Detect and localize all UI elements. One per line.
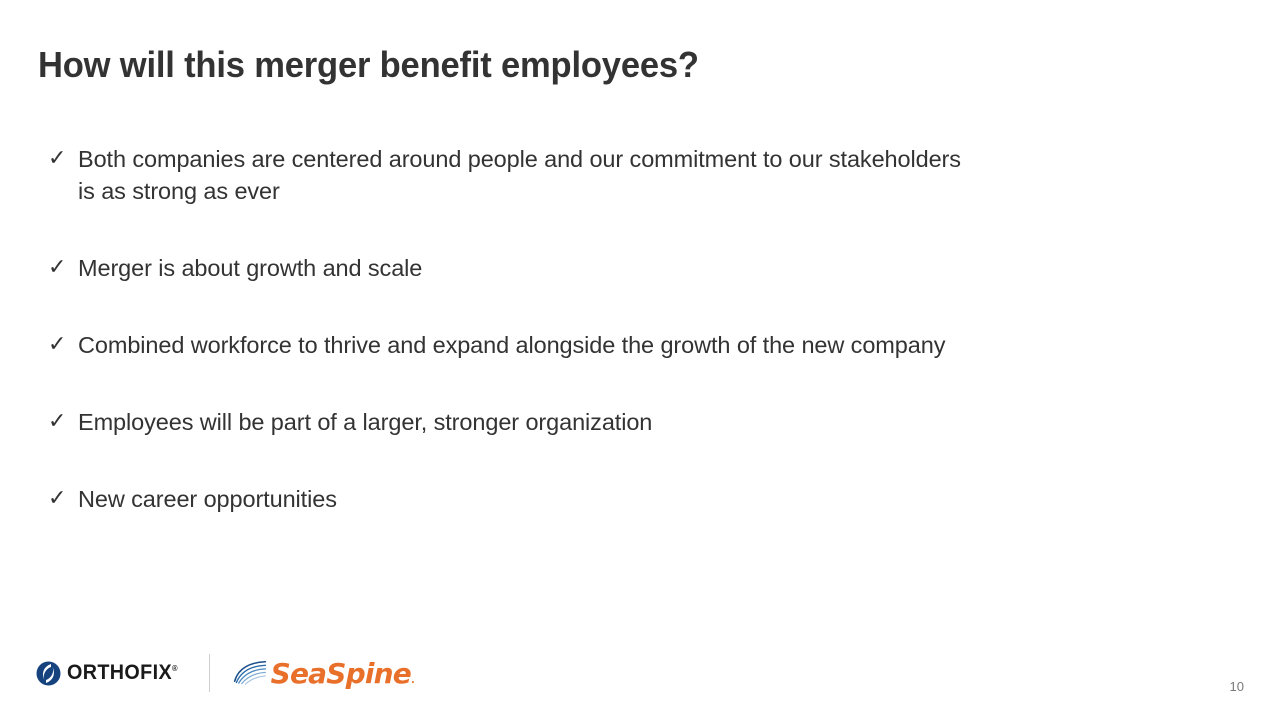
check-icon: ✓ bbox=[48, 143, 78, 175]
page-title: How will this merger benefit employees? bbox=[38, 44, 699, 86]
list-item-text: Employees will be part of a larger, stro… bbox=[78, 406, 1168, 438]
check-icon: ✓ bbox=[48, 252, 78, 284]
logo-group: ORTHOFIX® SeaSpine. bbox=[36, 654, 414, 692]
orthofix-wordmark: ORTHOFIX® bbox=[67, 661, 178, 685]
list-item: ✓ Merger is about growth and scale bbox=[48, 252, 1168, 284]
list-item-text: Combined workforce to thrive and expand … bbox=[78, 329, 1168, 361]
orthofix-circle-icon bbox=[36, 661, 61, 686]
bullet-list: ✓ Both companies are centered around peo… bbox=[48, 143, 1168, 515]
seaspine-wave-icon bbox=[232, 660, 268, 686]
logo-divider bbox=[209, 654, 210, 692]
orthofix-logo: ORTHOFIX® bbox=[36, 661, 185, 686]
registered-mark-icon: ® bbox=[172, 664, 178, 673]
page-number: 10 bbox=[1230, 679, 1244, 694]
check-icon: ✓ bbox=[48, 406, 78, 438]
check-icon: ✓ bbox=[48, 483, 78, 515]
seaspine-wordmark: SeaSpine. bbox=[271, 657, 414, 690]
trademark-mark-icon: . bbox=[411, 675, 414, 686]
slide-canvas: How will this merger benefit employees? … bbox=[0, 0, 1280, 720]
seaspine-logo: SeaSpine. bbox=[232, 657, 414, 690]
list-item: ✓ Combined workforce to thrive and expan… bbox=[48, 329, 1168, 361]
list-item: ✓ Employees will be part of a larger, st… bbox=[48, 406, 1168, 438]
slide-footer: ORTHOFIX® SeaSpine. 10 bbox=[0, 640, 1280, 720]
list-item: ✓ New career opportunities bbox=[48, 483, 1168, 515]
list-item-text: New career opportunities bbox=[78, 483, 1168, 515]
check-icon: ✓ bbox=[48, 329, 78, 361]
list-item-text: Merger is about growth and scale bbox=[78, 252, 1168, 284]
list-item: ✓ Both companies are centered around peo… bbox=[48, 143, 1168, 207]
list-item-text: Both companies are centered around peopl… bbox=[78, 143, 1168, 207]
